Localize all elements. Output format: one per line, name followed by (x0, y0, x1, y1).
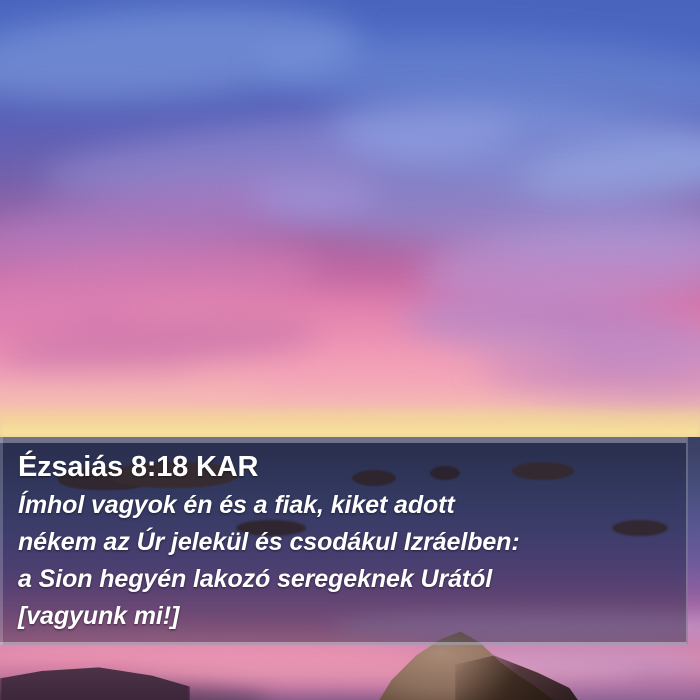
water-streak (420, 651, 700, 677)
cloud-streak (38, 95, 523, 215)
verse-image-scene: Ézsaiás 8:18 KAR Ímhol vagyok én és a fi… (0, 0, 700, 700)
cloud-streak (327, 86, 700, 208)
cloud-streak (119, 289, 562, 372)
cloud-streak (397, 282, 700, 387)
water-streak (0, 685, 270, 700)
overlay-left-seam (0, 437, 3, 645)
cloud-streak (0, 0, 363, 115)
cloud-streak (248, 158, 700, 268)
cloud-streak (0, 307, 322, 384)
cloud-streak (179, 343, 580, 402)
verse-overlay-panel: Ézsaiás 8:18 KAR Ímhol vagyok én és a fi… (0, 437, 688, 645)
verse-reference: Ézsaiás 8:18 KAR (18, 449, 686, 485)
verse-text-block: Ímhol vagyok én és a fiak, kiket adott n… (18, 487, 686, 635)
cloud-streak (0, 234, 322, 337)
verse-line: [vagyunk mi!] (18, 598, 686, 635)
cloud-streak (258, 26, 700, 133)
water-streak (480, 677, 700, 700)
sky-background (0, 0, 700, 440)
verse-line: nékem az Úr jelekül és csodákul Izráelbe… (18, 524, 686, 561)
cloud-streak (418, 216, 700, 313)
cloud-streak (0, 156, 383, 284)
verse-line: a Sion hegyén lakozó seregeknek Urától (18, 561, 686, 598)
verse-line: Ímhol vagyok én és a fiak, kiket adott (18, 487, 686, 524)
water-streak (120, 663, 640, 685)
cloud-streak (517, 119, 700, 210)
